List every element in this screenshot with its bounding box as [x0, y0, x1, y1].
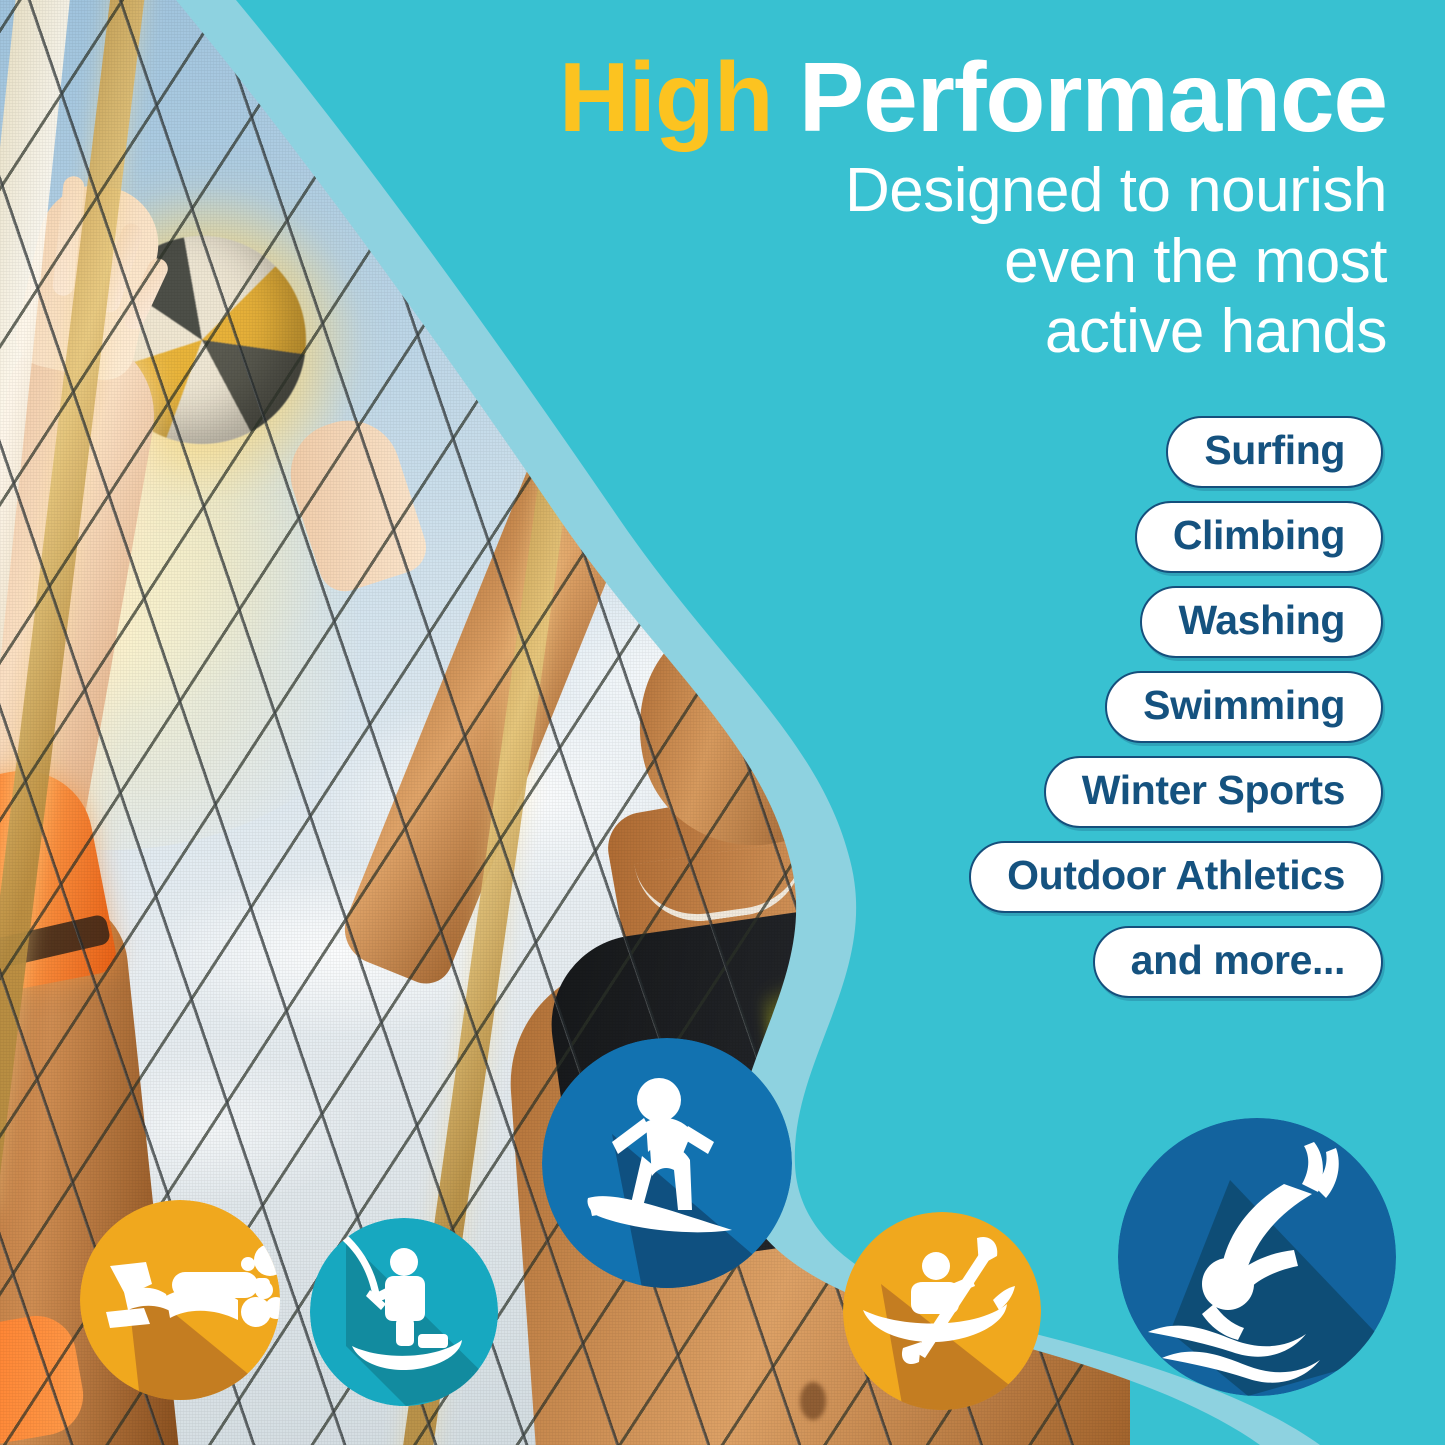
activity-pill-winter-sports[interactable]: Winter Sports: [1044, 756, 1383, 828]
activity-pill-climbing[interactable]: Climbing: [1135, 501, 1383, 573]
activity-pill-outdoor-athletics[interactable]: Outdoor Athletics: [969, 841, 1383, 913]
activity-pill-washing[interactable]: Washing: [1140, 586, 1383, 658]
subheadline-line-1: Designed to nourish: [845, 156, 1387, 225]
fishing-boat-icon[interactable]: [310, 1218, 498, 1406]
subheadline: Designed to nourish even the most active…: [527, 156, 1387, 368]
page-title: High Performance: [527, 48, 1387, 148]
diving-swimmer-icon[interactable]: [1118, 1118, 1396, 1396]
subheadline-line-2: even the most: [1004, 227, 1387, 296]
surfing-icon[interactable]: [542, 1038, 792, 1288]
copy-block: High Performance Designed to nourish eve…: [527, 48, 1387, 368]
kayaking-icon[interactable]: [843, 1212, 1041, 1410]
activity-pill-surfing[interactable]: Surfing: [1166, 416, 1383, 488]
activity-pill-swimming[interactable]: Swimming: [1105, 671, 1383, 743]
activity-pill-list: Surfing Climbing Washing Swimming Winter…: [969, 416, 1383, 998]
headline-rest-word: Performance: [799, 42, 1387, 152]
activity-pill-and-more[interactable]: and more...: [1093, 926, 1383, 998]
headline-accent-word: High: [559, 42, 773, 152]
promo-banner: High Performance Designed to nourish eve…: [0, 0, 1445, 1445]
subheadline-line-3: active hands: [1045, 297, 1387, 366]
scuba-diving-icon[interactable]: [80, 1200, 280, 1400]
